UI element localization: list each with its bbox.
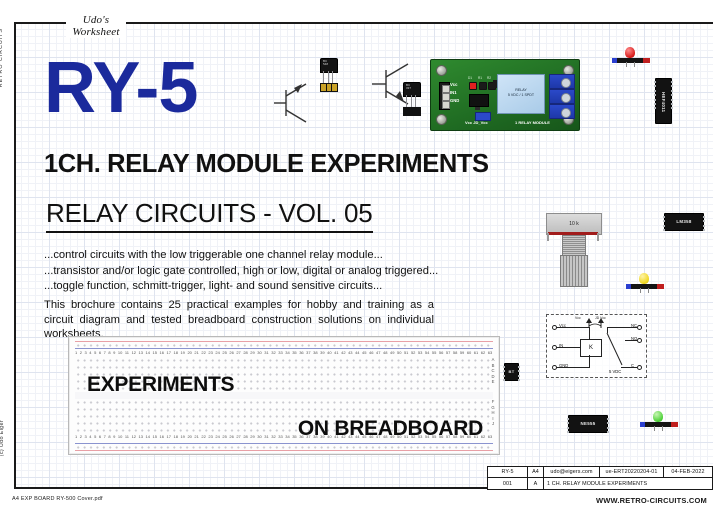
worksheet-page: Udo's Worksheet RETRO CIRCUITS (c) Udo E… xyxy=(0,0,713,511)
tb-revision: A xyxy=(528,478,544,489)
wire-gnd xyxy=(556,367,590,368)
schematic-node-no xyxy=(637,338,642,343)
footer-website: WWW.RETRO-CIRCUITS.COM xyxy=(596,496,707,505)
cover-headline: 1CH. RELAY MODULE EXPERIMENTS xyxy=(44,150,489,179)
schematic-node-nc xyxy=(637,325,642,330)
tb-format: A4 xyxy=(528,467,544,477)
ic-ne555-photo: NE555 xyxy=(568,415,608,433)
relay-can-label-1: RELAY xyxy=(515,88,527,92)
transistor-bc337-photo: BC337 xyxy=(403,82,419,95)
title-block-row-2: 001 A 1 CH. RELAY MODULE EXPERIMENTS xyxy=(488,478,712,489)
mounting-hole-icon xyxy=(436,114,447,125)
wire-in xyxy=(556,347,581,348)
title-block: RY-5 A4 udo@eigers.com ue-ERT20220204-01… xyxy=(487,466,713,490)
cover-code: RY-5 xyxy=(44,52,197,124)
wire-gnd-up xyxy=(589,355,590,368)
tb-description: 1 CH. RELAY MODULE EXPERIMENTS xyxy=(544,478,712,489)
status-led-icon xyxy=(469,82,477,90)
vertical-label-copyright: (c) Udo Eiger xyxy=(0,420,5,456)
screw-terminal-icon xyxy=(561,108,571,118)
bullet-line-1: ...control circuits with the low trigger… xyxy=(44,248,438,264)
schematic-label-supply: 5 VDC xyxy=(609,369,621,374)
ic-lm358-label: LM358 xyxy=(676,219,691,224)
breadboard-column-numbers-top: 1234567891011121314151617181920212223242… xyxy=(75,350,493,357)
bullet-line-2: ...transistor and/or logic gate controll… xyxy=(44,264,438,280)
bullet-line-3: ...toggle function, schmitt-trigger, lig… xyxy=(44,279,438,295)
optocoupler-ic xyxy=(469,94,489,107)
tb-email: udo@eigers.com xyxy=(544,467,600,477)
tb-date: 04-FEB-2022 xyxy=(664,467,712,477)
breadboard-text-bottom: ON BREADBOARD xyxy=(298,417,483,441)
tb-sheet-no: 001 xyxy=(488,478,528,489)
led-green-with-resistor-photo xyxy=(640,420,678,429)
rail-holes-top xyxy=(75,342,493,347)
schematic-label-jumper-jdvcc: JD Vcc xyxy=(595,316,606,320)
relay-schematic-diagram: Vcc IN GND NC NO C K Vcc JD Vcc 5 VDC xyxy=(546,314,647,378)
transistor-bc547-photo: BC548 xyxy=(320,58,336,71)
silkscreen-d1: D1 xyxy=(468,76,472,80)
pin-label-in1: IN1 xyxy=(450,90,457,95)
relay-coil-symbol: K xyxy=(580,339,602,357)
ic-hef4011-photo: HEF4011 xyxy=(655,78,672,124)
breadboard-rail-bottom xyxy=(75,443,493,450)
led-red-with-resistor-photo xyxy=(612,56,650,65)
silkscreen-board-label: 1 RELAY MODULE xyxy=(515,120,550,125)
frame-border-top-left xyxy=(14,22,66,24)
silkscreen-jumper-label: Vcc JD_Vcc xyxy=(465,120,488,125)
frame-border-top-right xyxy=(124,22,713,24)
sheet-label: Udo's Worksheet xyxy=(66,14,126,38)
relay-module-photo: Vcc IN1 GND D1 R1 R2 Q1 RELAY 5 VDC / 1 … xyxy=(430,59,580,131)
screw-terminal-icon xyxy=(561,93,571,103)
silkscreen-r2: R2 xyxy=(487,76,491,80)
vertical-label-retro-circuits: RETRO CIRCUITS xyxy=(0,28,4,87)
ic-lm358-photo: LM358 xyxy=(664,213,704,231)
cover-bullets: ...control circuits with the low trigger… xyxy=(44,248,438,295)
footer-filename: A4 EXP BOARD RY-500 Cover.pdf xyxy=(12,496,103,502)
ic-ne555-label: NE555 xyxy=(581,421,596,426)
relay-can-label-2: 5 VDC / 1 SPDT xyxy=(508,93,534,97)
input-pin-header xyxy=(439,82,450,110)
ic-small-black-photo: BT xyxy=(504,363,519,381)
pin-label-vcc: Vcc xyxy=(450,82,457,87)
breadboard-photo: 1234567891011121314151617181920212223242… xyxy=(68,336,500,455)
breadboard-row-labels-upper: ABCDE xyxy=(489,357,497,385)
breadboard-row-labels-lower: FGHIJ xyxy=(489,399,497,427)
pin-label-gnd: GND xyxy=(450,98,459,103)
rail-line-blue-top xyxy=(75,348,493,349)
frame-border-left xyxy=(14,22,16,489)
mounting-hole-icon xyxy=(436,65,447,76)
cover-subtitle: RELAY CIRCUITS - VOL. 05 xyxy=(46,198,373,233)
relay-contact-arm-icon xyxy=(605,331,627,369)
resistor-smd-icon xyxy=(479,82,487,90)
tb-doc-id: ue-ERT20220204-01 xyxy=(600,467,664,477)
rail-line-red-bottom xyxy=(75,450,493,451)
cover-paragraph: This brochure contains 25 practical exam… xyxy=(44,298,434,342)
breadboard-text-top: EXPERIMENTS xyxy=(87,373,234,397)
rail-holes-bottom xyxy=(75,444,493,449)
schematic-node-c xyxy=(637,365,642,370)
breadboard-rail-top xyxy=(75,341,493,348)
silkscreen-r1: R1 xyxy=(478,76,482,80)
tb-project: RY-5 xyxy=(488,467,528,477)
title-block-row-1: RY-5 A4 udo@eigers.com ue-ERT20220204-01… xyxy=(488,467,712,478)
transistor-symbol-npn xyxy=(272,82,324,124)
ic-hef4011-label: HEF4011 xyxy=(661,92,666,107)
screw-terminal-icon xyxy=(561,78,571,88)
schematic-label-jumper-vcc: Vcc xyxy=(575,316,581,320)
relay-can: RELAY 5 VDC / 1 SPDT xyxy=(497,74,545,114)
led-yellow-with-resistor-photo xyxy=(626,282,664,291)
ic-small-black-label: BT xyxy=(505,364,518,380)
